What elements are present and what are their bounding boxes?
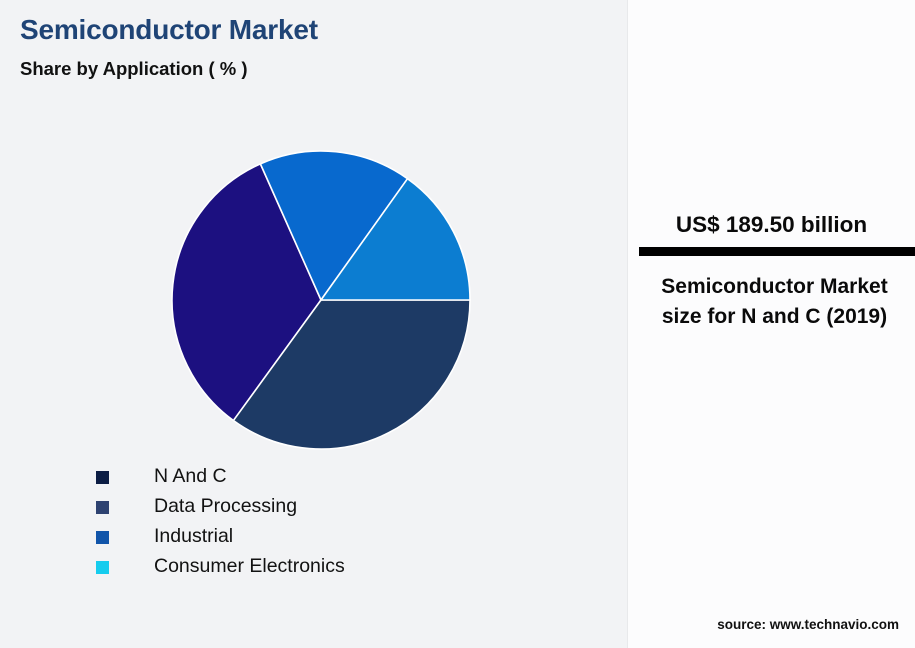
kpi-panel: US$ 189.50 billion Semiconductor Market … <box>627 0 915 648</box>
source-note: source: www.technavio.com <box>628 617 899 632</box>
legend-swatch-icon <box>96 471 109 484</box>
legend-item[interactable]: Data Processing <box>96 492 576 522</box>
infographic-root: Semiconductor Market Share by Applicatio… <box>0 0 915 648</box>
legend-item-label: N And C <box>154 467 227 487</box>
pie-chart-svg <box>166 145 476 455</box>
legend-swatch-icon <box>96 531 109 544</box>
legend-item[interactable]: N And C <box>96 462 576 492</box>
legend-item-label: Data Processing <box>154 497 297 517</box>
kpi-caption: Semiconductor Market size for N and C (2… <box>642 272 907 332</box>
kpi-value: US$ 189.50 billion <box>628 212 915 238</box>
legend-item[interactable]: Consumer Electronics <box>96 552 576 582</box>
kpi-divider <box>639 247 915 256</box>
chart-subtitle: Share by Application ( % ) <box>20 58 248 80</box>
chart-panel: Semiconductor Market Share by Applicatio… <box>0 0 627 648</box>
pie-chart <box>166 145 476 455</box>
legend-swatch-icon <box>96 561 109 574</box>
legend-item-label: Consumer Electronics <box>154 557 345 577</box>
page-title: Semiconductor Market <box>20 14 318 46</box>
chart-legend: N And CData ProcessingIndustrialConsumer… <box>96 462 576 582</box>
legend-item-label: Industrial <box>154 527 233 547</box>
legend-swatch-icon <box>96 501 109 514</box>
legend-item[interactable]: Industrial <box>96 522 576 552</box>
